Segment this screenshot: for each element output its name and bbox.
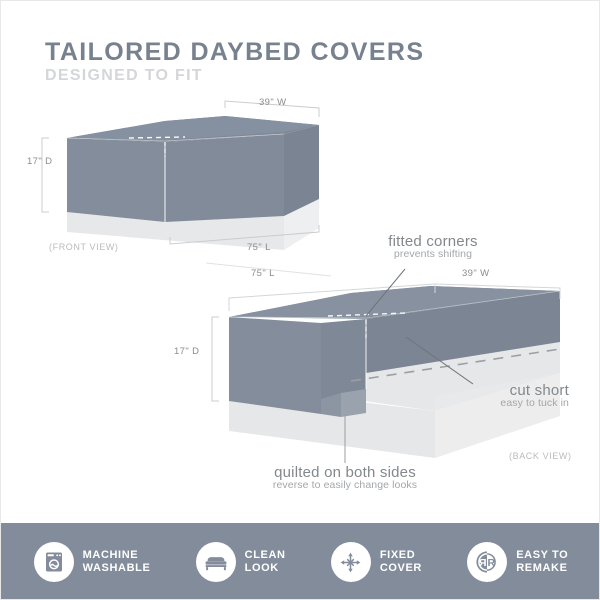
front-length-label: 75" L [247,242,271,253]
callout-quilted-sub: reverse to easily change looks [260,480,430,491]
back-view-label: (BACK VIEW) [509,451,572,461]
four-arrows-icon [331,542,371,582]
reversible-r-icon: R R [467,542,507,582]
page-title: TAILORED DAYBED COVERS [45,39,424,65]
front-view-label: (FRONT VIEW) [49,242,119,252]
feature-line-1: MACHINE [83,549,139,561]
callout-cut-short-title: cut short [399,383,569,398]
callout-cut-short-sub: easy to tuck in [399,398,569,409]
feature-easy-to-remake-label: EASY TO REMAKE [516,549,568,575]
feature-bar: MACHINE WASHABLE CLEAN LOOK [1,523,600,600]
washing-machine-icon [34,542,74,582]
callout-cut-short: cut short easy to tuck in [399,383,569,409]
back-width-label: 39" W [462,268,490,279]
front-view-diagram [42,101,319,250]
daybed-diagrams [1,1,600,600]
callout-quilted: quilted on both sides reverse to easily … [260,465,430,491]
front-depth-label: 17" D [27,156,52,167]
infographic-page: TAILORED DAYBED COVERS DESIGNED TO FIT 3… [0,0,600,600]
feature-machine-washable: MACHINE WASHABLE [34,542,151,582]
svg-text:R: R [479,557,487,569]
feature-line-2: REMAKE [516,562,567,574]
feature-line-2: COVER [380,562,422,574]
front-cover-long-face [67,138,165,222]
bed-icon [196,542,236,582]
feature-line-1: EASY TO [516,549,568,561]
back-cover-long-face [229,317,321,414]
callout-quilted-title: quilted on both sides [260,465,430,480]
callout-fitted-corners: fitted corners prevents shifting [358,234,508,260]
back-depth-label: 17" D [174,346,199,357]
back-cover-corner-flap [341,389,366,417]
front-cover-front-face [165,134,284,222]
back-depth-bracket [212,317,219,401]
front-depth-bracket [42,138,49,212]
svg-text:R: R [488,557,496,569]
front-width-label: 39" W [259,97,287,108]
back-length-top-label: 75" L [251,268,275,279]
feature-clean-look: CLEAN LOOK [196,542,286,582]
feature-machine-washable-label: MACHINE WASHABLE [83,549,151,575]
header-block: TAILORED DAYBED COVERS DESIGNED TO FIT [45,39,424,86]
page-subtitle: DESIGNED TO FIT [45,67,424,85]
feature-line-1: FIXED [380,549,415,561]
callout-fitted-corners-sub: prevents shifting [358,249,508,260]
feature-fixed-cover: FIXED COVER [331,542,422,582]
callout-fitted-corners-title: fitted corners [358,234,508,249]
feature-clean-look-label: CLEAN LOOK [245,549,286,575]
feature-line-2: LOOK [245,562,279,574]
feature-easy-to-remake: R R EASY TO REMAKE [467,542,568,582]
feature-line-1: CLEAN [245,549,286,561]
feature-fixed-cover-label: FIXED COVER [380,549,422,575]
feature-line-2: WASHABLE [83,562,151,574]
back-view-diagram [206,263,560,463]
